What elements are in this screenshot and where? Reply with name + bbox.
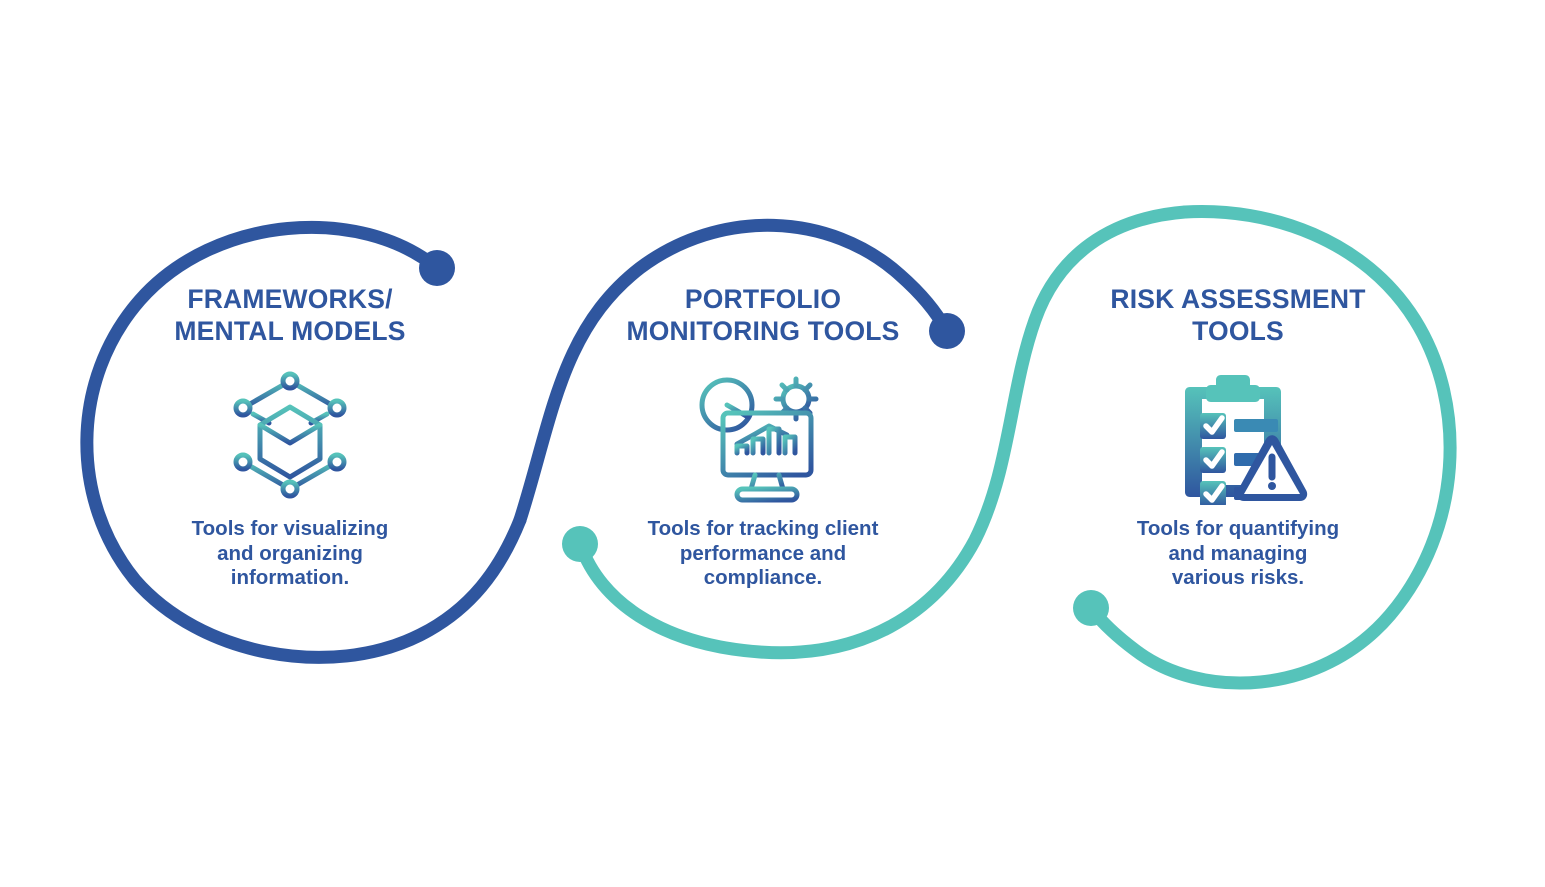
dot-node-2-blue xyxy=(929,313,965,349)
infographic-canvas: FRAMEWORKS/ MENTAL MODELS xyxy=(0,0,1545,887)
node-title: RISK ASSESSMENT TOOLS xyxy=(1110,283,1365,347)
node-description: Tools for tracking client performance an… xyxy=(648,517,879,591)
network-cube-icon xyxy=(225,365,355,505)
monitor-analytics-icon xyxy=(693,365,833,505)
node-risk-assessment-tools[interactable]: RISK ASSESSMENT TOOLS xyxy=(1088,283,1388,591)
node-title: FRAMEWORKS/ MENTAL MODELS xyxy=(174,283,405,347)
node-description: Tools for quantifying and managing vario… xyxy=(1137,517,1339,591)
node-portfolio-monitoring-tools[interactable]: PORTFOLIO MONITORING TOOLS xyxy=(613,283,913,591)
clipboard-warning-icon xyxy=(1168,365,1308,505)
node-frameworks-mental-models[interactable]: FRAMEWORKS/ MENTAL MODELS xyxy=(140,283,440,591)
dot-node-2-teal xyxy=(562,526,598,562)
node-description: Tools for visualizing and organizing inf… xyxy=(192,517,389,591)
dot-node-3-teal xyxy=(1073,590,1109,626)
node-title: PORTFOLIO MONITORING TOOLS xyxy=(626,283,899,347)
dot-node-1 xyxy=(419,250,455,286)
